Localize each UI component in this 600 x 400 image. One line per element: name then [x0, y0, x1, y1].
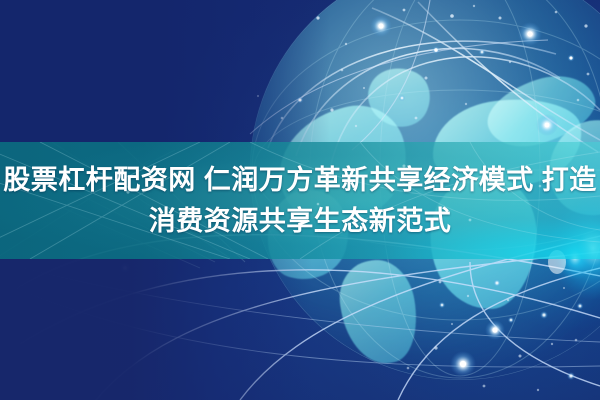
top-band-overlay: [0, 0, 600, 142]
headline-line-2: 消费资源共享生态新范式: [0, 201, 600, 242]
banner-image: 股票杠杆配资网 仁润万方革新共享经济模式 打造 消费资源共享生态新范式: [0, 0, 600, 400]
bottom-band-overlay: [0, 259, 600, 400]
headline-text: 股票杠杆配资网 仁润万方革新共享经济模式 打造 消费资源共享生态新范式: [0, 160, 600, 242]
headline-line-1: 股票杠杆配资网 仁润万方革新共享经济模式 打造: [0, 160, 600, 201]
